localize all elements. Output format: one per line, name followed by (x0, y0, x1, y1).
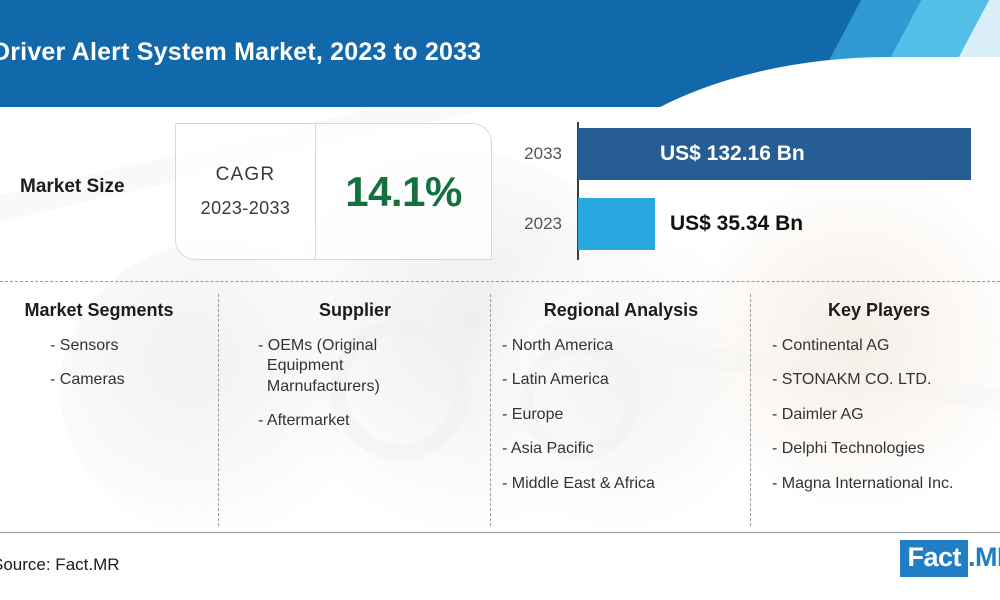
list-item: - North America (502, 336, 746, 356)
list-item: - Middle East & Africa (502, 474, 746, 494)
infographic-page: Driver Alert System Market, 2023 to 2033… (0, 0, 1000, 600)
column-list-regional-analysis: - North America - Latin America - Europe… (496, 336, 746, 494)
column-regional-analysis: Regional Analysis - North America - Lati… (496, 300, 746, 508)
horizontal-divider (0, 281, 1000, 282)
list-item: - STONAKM CO. LTD. (772, 370, 1000, 390)
cagr-card-left: CAGR 2023-2033 (176, 124, 316, 259)
column-list-supplier: - OEMs (Original Equipment Marnufacturer… (224, 336, 486, 432)
header-curve-shape (550, 57, 1000, 107)
column-list-market-segments: - Sensors - Cameras (4, 336, 214, 391)
footer-rule (0, 532, 1000, 533)
list-item: - Cameras (50, 370, 214, 390)
column-title-supplier: Supplier (224, 300, 486, 321)
list-item: - Continental AG (772, 336, 1000, 356)
logo-suffix-text: .MR (968, 544, 1000, 573)
page-title: Driver Alert System Market, 2023 to 2033 (0, 38, 481, 67)
bar-2023 (578, 198, 655, 250)
market-size-label: Market Size (20, 176, 125, 198)
source-text: Source: Fact.MR (0, 555, 120, 575)
list-item: - Asia Pacific (502, 439, 746, 459)
column-title-regional-analysis: Regional Analysis (496, 300, 746, 321)
bar-category-label-2033: 2033 (520, 144, 572, 164)
column-list-key-players: - Continental AG - STONAKM CO. LTD. - Da… (758, 336, 1000, 494)
list-item: - Latin America (502, 370, 746, 390)
column-title-market-segments: Market Segments (4, 300, 214, 321)
list-item: - Sensors (50, 336, 214, 356)
bar-value-label-2033: US$ 132.16 Bn (660, 142, 805, 166)
bar-2033: US$ 132.16 Bn (578, 128, 971, 180)
list-item: - Daimler AG (772, 405, 1000, 425)
detail-columns: Market Segments - Sensors - Cameras Supp… (0, 300, 1000, 526)
list-item: - Aftermarket (258, 411, 486, 431)
market-size-bar-chart: 2033 US$ 132.16 Bn 2023 US$ 35.34 Bn (520, 120, 980, 262)
chart-bar-row-2033: 2033 US$ 132.16 Bn (520, 128, 980, 180)
bar-category-label-2023: 2023 (520, 214, 572, 234)
header-banner: Driver Alert System Market, 2023 to 2033 (0, 0, 1000, 107)
factmr-logo[interactable]: Fact .MR (900, 541, 1000, 575)
list-item: - Magna International Inc. (772, 474, 1000, 494)
cagr-card: CAGR 2023-2033 14.1% (175, 123, 492, 260)
column-key-players: Key Players - Continental AG - STONAKM C… (758, 300, 1000, 508)
bar-track-2033: US$ 132.16 Bn (578, 128, 980, 180)
bar-track-2023: US$ 35.34 Bn (578, 198, 980, 250)
list-item: - OEMs (Original Equipment Marnufacturer… (258, 336, 486, 397)
list-item: - Delphi Technologies (772, 439, 1000, 459)
bar-value-label-2023: US$ 35.34 Bn (670, 212, 803, 236)
logo-mark-text: Fact (900, 540, 968, 577)
cagr-value: 14.1% (345, 168, 462, 216)
cagr-card-right: 14.1% (316, 124, 491, 259)
chart-bar-row-2023: 2023 US$ 35.34 Bn (520, 198, 980, 250)
column-supplier: Supplier - OEMs (Original Equipment Marn… (224, 300, 486, 446)
cagr-range: 2023-2033 (201, 198, 291, 219)
column-market-segments: Market Segments - Sensors - Cameras (4, 300, 214, 405)
column-title-key-players: Key Players (758, 300, 1000, 321)
cagr-title: CAGR (216, 164, 276, 186)
list-item: - Europe (502, 405, 746, 425)
